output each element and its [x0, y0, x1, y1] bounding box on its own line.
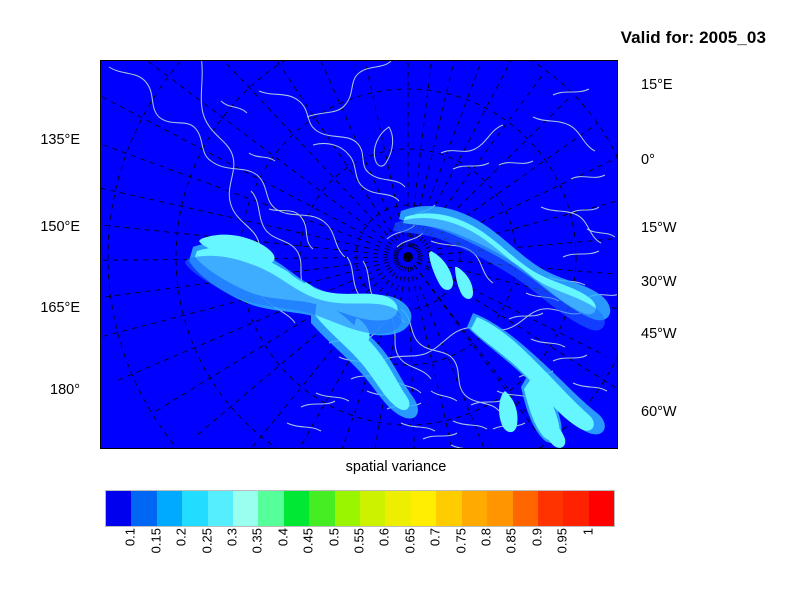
map-svg [101, 61, 617, 448]
colorbar-segment-4 [208, 491, 233, 526]
colorbar-segment-18 [563, 491, 588, 526]
colorbar-segment-8 [309, 491, 334, 526]
colorbar-tick-label: 0.75 [454, 528, 467, 553]
colorbar-segment-12 [411, 491, 436, 526]
colorbar-segment-2 [157, 491, 182, 526]
colorbar-tick-label: 0.7 [429, 528, 442, 546]
colorbar-segment-7 [284, 491, 309, 526]
axis-label-right: 0° [641, 153, 655, 168]
colorbar-tick-label: 0.95 [556, 528, 569, 553]
colorbar-tick-label: 0.25 [200, 528, 213, 553]
colorbar-tick-label: 0.8 [480, 528, 493, 546]
colorbar-tick-label: 0.55 [353, 528, 366, 553]
colorbar-segment-19 [589, 491, 614, 526]
page-title: Valid for: 2005_03 [621, 28, 766, 48]
axis-label-right: 60°W [641, 405, 677, 420]
figure-canvas: Valid for: 2005_03 [0, 0, 792, 612]
colorbar-tick-label: 0.3 [226, 528, 239, 546]
colorbar-segment-11 [385, 491, 410, 526]
colorbar-tick-label: 0.2 [175, 528, 188, 546]
colorbar-segment-9 [335, 491, 360, 526]
axis-label-right: 45°W [641, 327, 677, 342]
colorbar-segment-17 [538, 491, 563, 526]
colorbar-tick-label: 0.35 [251, 528, 264, 553]
axis-label-right: 30°W [641, 275, 677, 290]
colorbar-segment-16 [513, 491, 538, 526]
colorbar-tick-label: 0.45 [302, 528, 315, 553]
colorbar-segment-1 [131, 491, 156, 526]
colorbar-caption: spatial variance [0, 459, 792, 475]
colorbar-tick-label: 0.4 [276, 528, 289, 546]
colorbar-tick-label: 1 [581, 528, 594, 535]
colorbar-tick-label: 0.85 [505, 528, 518, 553]
axis-label-left: 150°E [10, 220, 80, 235]
colorbar-tick-label: 0.5 [327, 528, 340, 546]
axis-label-left: 180° [10, 383, 80, 398]
axis-label-right: 15°W [641, 221, 677, 236]
colorbar-tick-label: 0.6 [378, 528, 391, 546]
colorbar-tick-labels: 0.10.150.20.250.30.350.40.450.50.550.60.… [105, 528, 613, 598]
colorbar-segment-10 [360, 491, 385, 526]
colorbar-segment-15 [487, 491, 512, 526]
colorbar-segment-6 [258, 491, 283, 526]
axis-label-left: 165°E [10, 301, 80, 316]
colorbar [105, 490, 615, 527]
colorbar-segment-0 [106, 491, 131, 526]
colorbar-segment-13 [436, 491, 461, 526]
axis-label-right: 15°E [641, 78, 673, 93]
colorbar-tick-label: 0.1 [124, 528, 137, 546]
colorbar-segment-3 [182, 491, 207, 526]
axis-label-left: 135°E [10, 133, 80, 148]
colorbar-tick-label: 0.65 [403, 528, 416, 553]
colorbar-segment-5 [233, 491, 258, 526]
map-plot-area [100, 60, 618, 449]
colorbar-tick-label: 0.9 [530, 528, 543, 546]
colorbar-tick-label: 0.15 [149, 528, 162, 553]
colorbar-segment-14 [462, 491, 487, 526]
